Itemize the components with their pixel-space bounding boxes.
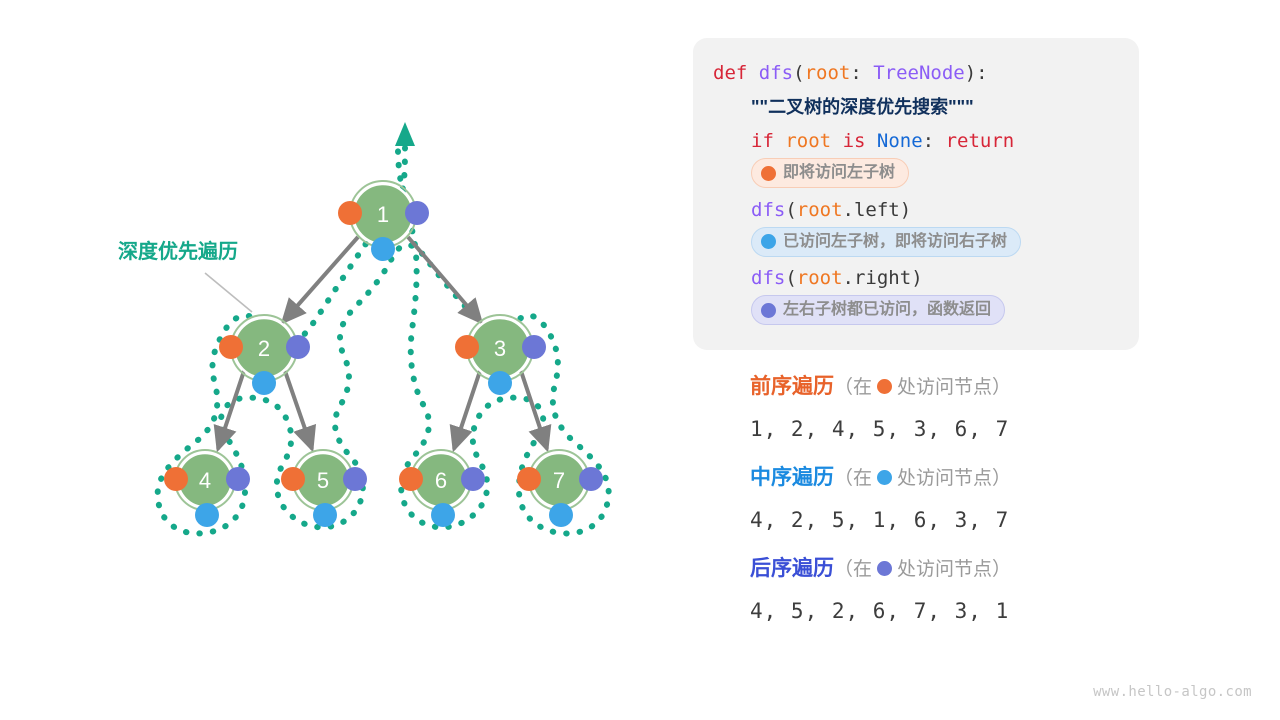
legend-block-preorder: 前序遍历（在处访问节点） 1, 2, 4, 5, 3, 6, 7 [750, 368, 1170, 451]
preorder-dot-icon [761, 166, 776, 181]
paren-close: ) [900, 199, 911, 221]
preorder-dot [281, 467, 305, 491]
inorder-dot [549, 503, 573, 527]
param-root: root [797, 267, 843, 289]
tree-node-1[interactable]: 1 [338, 181, 429, 261]
inorder-dot [313, 503, 337, 527]
code-line-guard: if root is None: return [713, 124, 1119, 158]
inorder-dot [195, 503, 219, 527]
legend-head-postorder: 后序遍历（在处访问节点） [750, 550, 1170, 589]
legend-note-close: 处访问节点） [897, 377, 1011, 398]
inorder-dot [431, 503, 455, 527]
postorder-dot [286, 335, 310, 359]
preorder-dot [338, 201, 362, 225]
inorder-dot-icon [877, 470, 892, 485]
colon: : [850, 62, 873, 84]
preorder-dot [517, 467, 541, 491]
preorder-dot [219, 335, 243, 359]
inorder-dot [252, 371, 276, 395]
binary-tree-svg: 深度优先遍历 1 2 3 [0, 0, 680, 720]
paren-open: ( [785, 267, 796, 289]
legend-sequence-inorder: 4, 2, 5, 1, 6, 3, 7 [750, 498, 1170, 542]
param-root: root [785, 130, 831, 152]
edge-1-3 [408, 237, 481, 322]
keyword-def: def [713, 62, 747, 84]
node-value: 4 [199, 468, 211, 493]
postorder-dot [579, 467, 603, 491]
annotation-leader-line [205, 273, 252, 312]
postorder-dot-icon [877, 561, 892, 576]
legend-head-inorder: 中序遍历（在处访问节点） [750, 459, 1170, 498]
annotation-row-postorder: 左右子树都已访问，函数返回 [713, 295, 1119, 330]
legend-note-open: （在 [834, 468, 872, 489]
legend-sequence-postorder: 4, 5, 2, 6, 7, 3, 1 [750, 589, 1170, 633]
constant-none: None [877, 130, 923, 152]
node-value: 6 [435, 468, 447, 493]
function-name: dfs [759, 62, 793, 84]
legend-note-open: （在 [834, 377, 872, 398]
code-line-docstring: ""二叉树的深度优先搜索""" [713, 90, 1119, 124]
node-value: 5 [317, 468, 329, 493]
edge-2-5 [285, 371, 312, 449]
inorder-dot [371, 237, 395, 261]
annotation-pill-postorder-label: 左右子树都已访问，函数返回 [783, 299, 991, 321]
preorder-dot [164, 467, 188, 491]
postorder-dot [461, 467, 485, 491]
code-line-def: def dfs(root: TreeNode): [713, 56, 1119, 90]
type-treenode: TreeNode [873, 62, 965, 84]
postorder-dot [226, 467, 250, 491]
preorder-dot [455, 335, 479, 359]
paren-close: ) [911, 267, 922, 289]
watermark: www.hello-algo.com [1093, 684, 1252, 700]
docstring-text: ""二叉树的深度优先搜索""" [751, 97, 974, 117]
entry-arrow-icon [395, 122, 415, 146]
postorder-dot [343, 467, 367, 491]
function-name: dfs [751, 199, 785, 221]
legend-head-preorder: 前序遍历（在处访问节点） [750, 368, 1170, 407]
legend-title-preorder: 前序遍历 [750, 375, 834, 398]
preorder-dot-icon [877, 379, 892, 394]
code-line-dfs-left: dfs(root.left) [713, 193, 1119, 227]
inorder-dot-icon [761, 234, 776, 249]
code-line-dfs-right: dfs(root.right) [713, 261, 1119, 295]
preorder-dot [399, 467, 423, 491]
annotation-pill-preorder-label: 即将访问左子树 [783, 162, 895, 184]
tree-node-2[interactable]: 2 [219, 315, 310, 395]
legend-note-close: 处访问节点） [897, 559, 1011, 580]
legend-block-inorder: 中序遍历（在处访问节点） 4, 2, 5, 1, 6, 3, 7 [750, 459, 1170, 542]
legend-note-close: 处访问节点） [897, 468, 1011, 489]
legend-note-open: （在 [834, 559, 872, 580]
paren-open: ( [793, 62, 804, 84]
paren-close: ): [965, 62, 988, 84]
param-root: root [797, 199, 843, 221]
annotation-pill-inorder: 已访问左子树，即将访问右子树 [751, 227, 1021, 257]
postorder-dot [405, 201, 429, 225]
edge-3-7 [521, 371, 547, 449]
param-root: root [805, 62, 851, 84]
postorder-dot [522, 335, 546, 359]
keyword-if: if [751, 130, 774, 152]
annotation-row-inorder: 已访问左子树，即将访问右子树 [713, 227, 1119, 262]
legend-title-inorder: 中序遍历 [750, 466, 834, 489]
function-name: dfs [751, 267, 785, 289]
legend-sequence-preorder: 1, 2, 4, 5, 3, 6, 7 [750, 407, 1170, 451]
annotation-row-preorder: 即将访问左子树 [713, 158, 1119, 193]
edge-2-4 [218, 371, 244, 449]
annotation-pill-preorder: 即将访问左子树 [751, 158, 909, 188]
legend-title-postorder: 后序遍历 [750, 557, 834, 580]
dfs-annotation-label: 深度优先遍历 [118, 239, 238, 263]
tree-node-3[interactable]: 3 [455, 315, 546, 395]
paren-open: ( [785, 199, 796, 221]
annotation-pill-inorder-label: 已访问左子树，即将访问右子树 [783, 231, 1007, 253]
node-value: 7 [553, 468, 565, 493]
legend-block-postorder: 后序遍历（在处访问节点） 4, 5, 2, 6, 7, 3, 1 [750, 550, 1170, 633]
keyword-return: return [946, 130, 1015, 152]
inorder-dot [488, 371, 512, 395]
keyword-is: is [843, 130, 866, 152]
node-value: 3 [494, 336, 506, 361]
traversal-legend: 前序遍历（在处访问节点） 1, 2, 4, 5, 3, 6, 7 中序遍历（在处… [750, 368, 1170, 641]
tree-diagram-panel: 深度优先遍历 1 2 3 [0, 0, 680, 720]
code-snippet-panel: def dfs(root: TreeNode): ""二叉树的深度优先搜索"""… [693, 38, 1139, 350]
postorder-dot-icon [761, 303, 776, 318]
annotation-pill-postorder: 左右子树都已访问，函数返回 [751, 295, 1005, 325]
edge-3-6 [454, 371, 480, 449]
node-value: 1 [377, 202, 389, 227]
attr-right: .right [843, 267, 912, 289]
attr-left: .left [843, 199, 900, 221]
node-value: 2 [258, 336, 270, 361]
colon: : [923, 130, 946, 152]
